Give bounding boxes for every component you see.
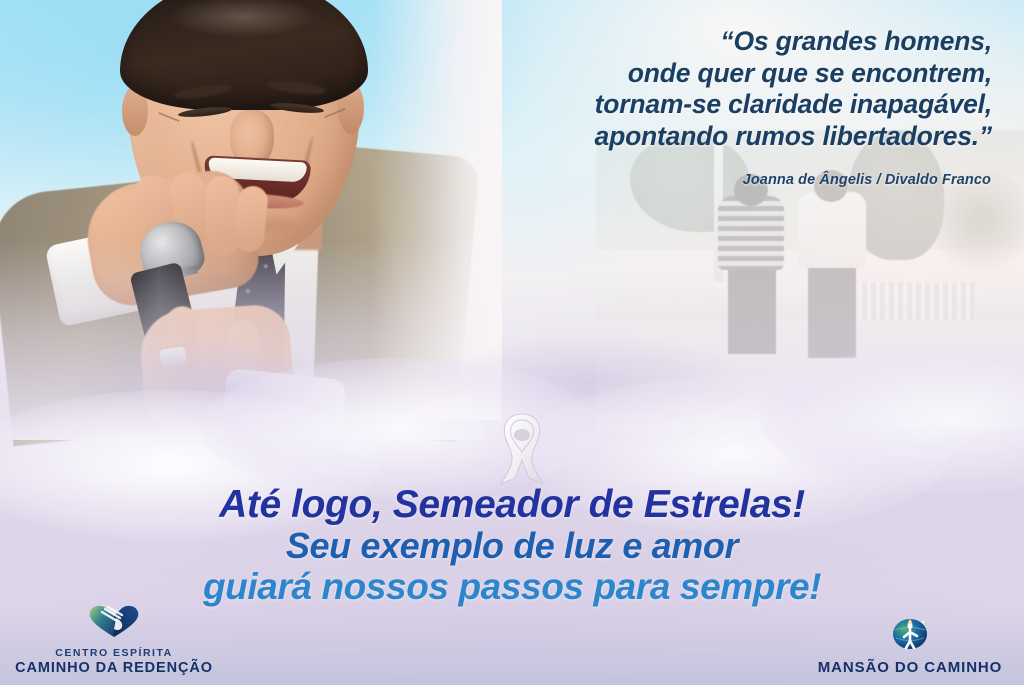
quote-attribution: Joanna de Ângelis / Divaldo Franco: [743, 172, 991, 188]
logo-centro-espirita[interactable]: CENTRO ESPÍRITA CAMINHO DA REDENÇÃO: [8, 601, 220, 677]
globe-figure-icon: [804, 611, 1016, 656]
logo-left-line-2: CAMINHO DA REDENÇÃO: [8, 660, 220, 677]
quote-block: “Os grandes homens, onde quer que se enc…: [432, 26, 992, 152]
headline-block: Até logo, Semeador de Estrelas! Seu exem…: [0, 484, 1024, 607]
headline-line-1: Até logo, Semeador de Estrelas!: [0, 484, 1024, 526]
headline-line-2: Seu exemplo de luz e amor: [0, 526, 1024, 566]
mourning-ribbon-icon: [489, 408, 555, 488]
logo-left-line-1: CENTRO ESPÍRITA: [8, 647, 220, 660]
portrait-divaldo-franco: [0, 0, 462, 430]
quote-line-3: tornam-se claridade inapagável,: [432, 89, 992, 121]
heart-hands-icon: [8, 601, 220, 644]
quote-line-2: onde quer que se encontrem,: [432, 58, 992, 90]
logo-mansao-do-caminho[interactable]: MANSÃO DO CAMINHO: [804, 611, 1016, 677]
quote-line-1: “Os grandes homens,: [432, 26, 992, 58]
memorial-poster: “Os grandes homens, onde quer que se enc…: [0, 0, 1024, 685]
finger-ring: [159, 346, 187, 366]
shirt-cuff-lower: [221, 368, 346, 438]
logo-right-line-1: MANSÃO DO CAMINHO: [804, 659, 1016, 677]
quote-line-4: apontando rumos libertadores.”: [432, 121, 992, 153]
footer-band: CENTRO ESPÍRITA CAMINHO DA REDENÇÃO: [0, 607, 1024, 685]
